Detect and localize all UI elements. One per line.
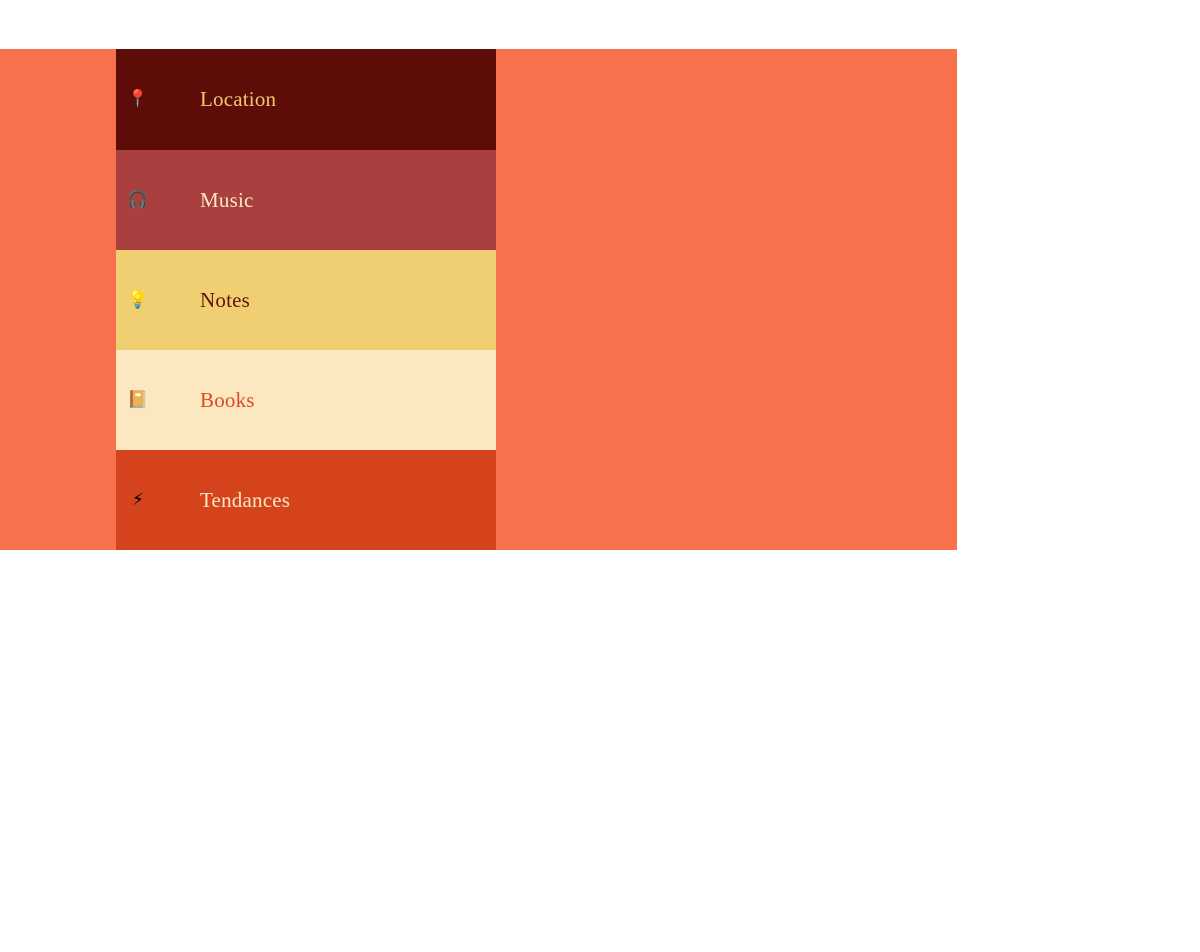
menu-item-music[interactable]: 🎧 Music (116, 150, 496, 250)
menu-item-tendances[interactable]: ⚡ Tendances (116, 450, 496, 550)
menu-item-label-location: Location (200, 89, 276, 110)
headphones-icon: 🎧 (127, 192, 149, 209)
menu-item-label-notes: Notes (200, 290, 250, 311)
location-pin-icon: 📍 (127, 91, 149, 108)
menu-item-label-tendances: Tendances (200, 490, 290, 511)
lightbulb-icon: 💡 (127, 292, 149, 309)
lightning-bolt-icon: ⚡ (127, 492, 149, 509)
menu-item-notes[interactable]: 💡 Notes (116, 250, 496, 350)
category-menu: 📍 Location 🎧 Music 💡 Notes 📔 Books ⚡ Ten… (116, 49, 496, 550)
page-background-panel: 📍 Location 🎧 Music 💡 Notes 📔 Books ⚡ Ten… (0, 49, 957, 550)
notebook-icon: 📔 (127, 392, 149, 409)
menu-item-label-books: Books (200, 390, 255, 411)
menu-item-books[interactable]: 📔 Books (116, 350, 496, 450)
menu-item-location[interactable]: 📍 Location (116, 49, 496, 150)
menu-item-label-music: Music (200, 190, 254, 211)
